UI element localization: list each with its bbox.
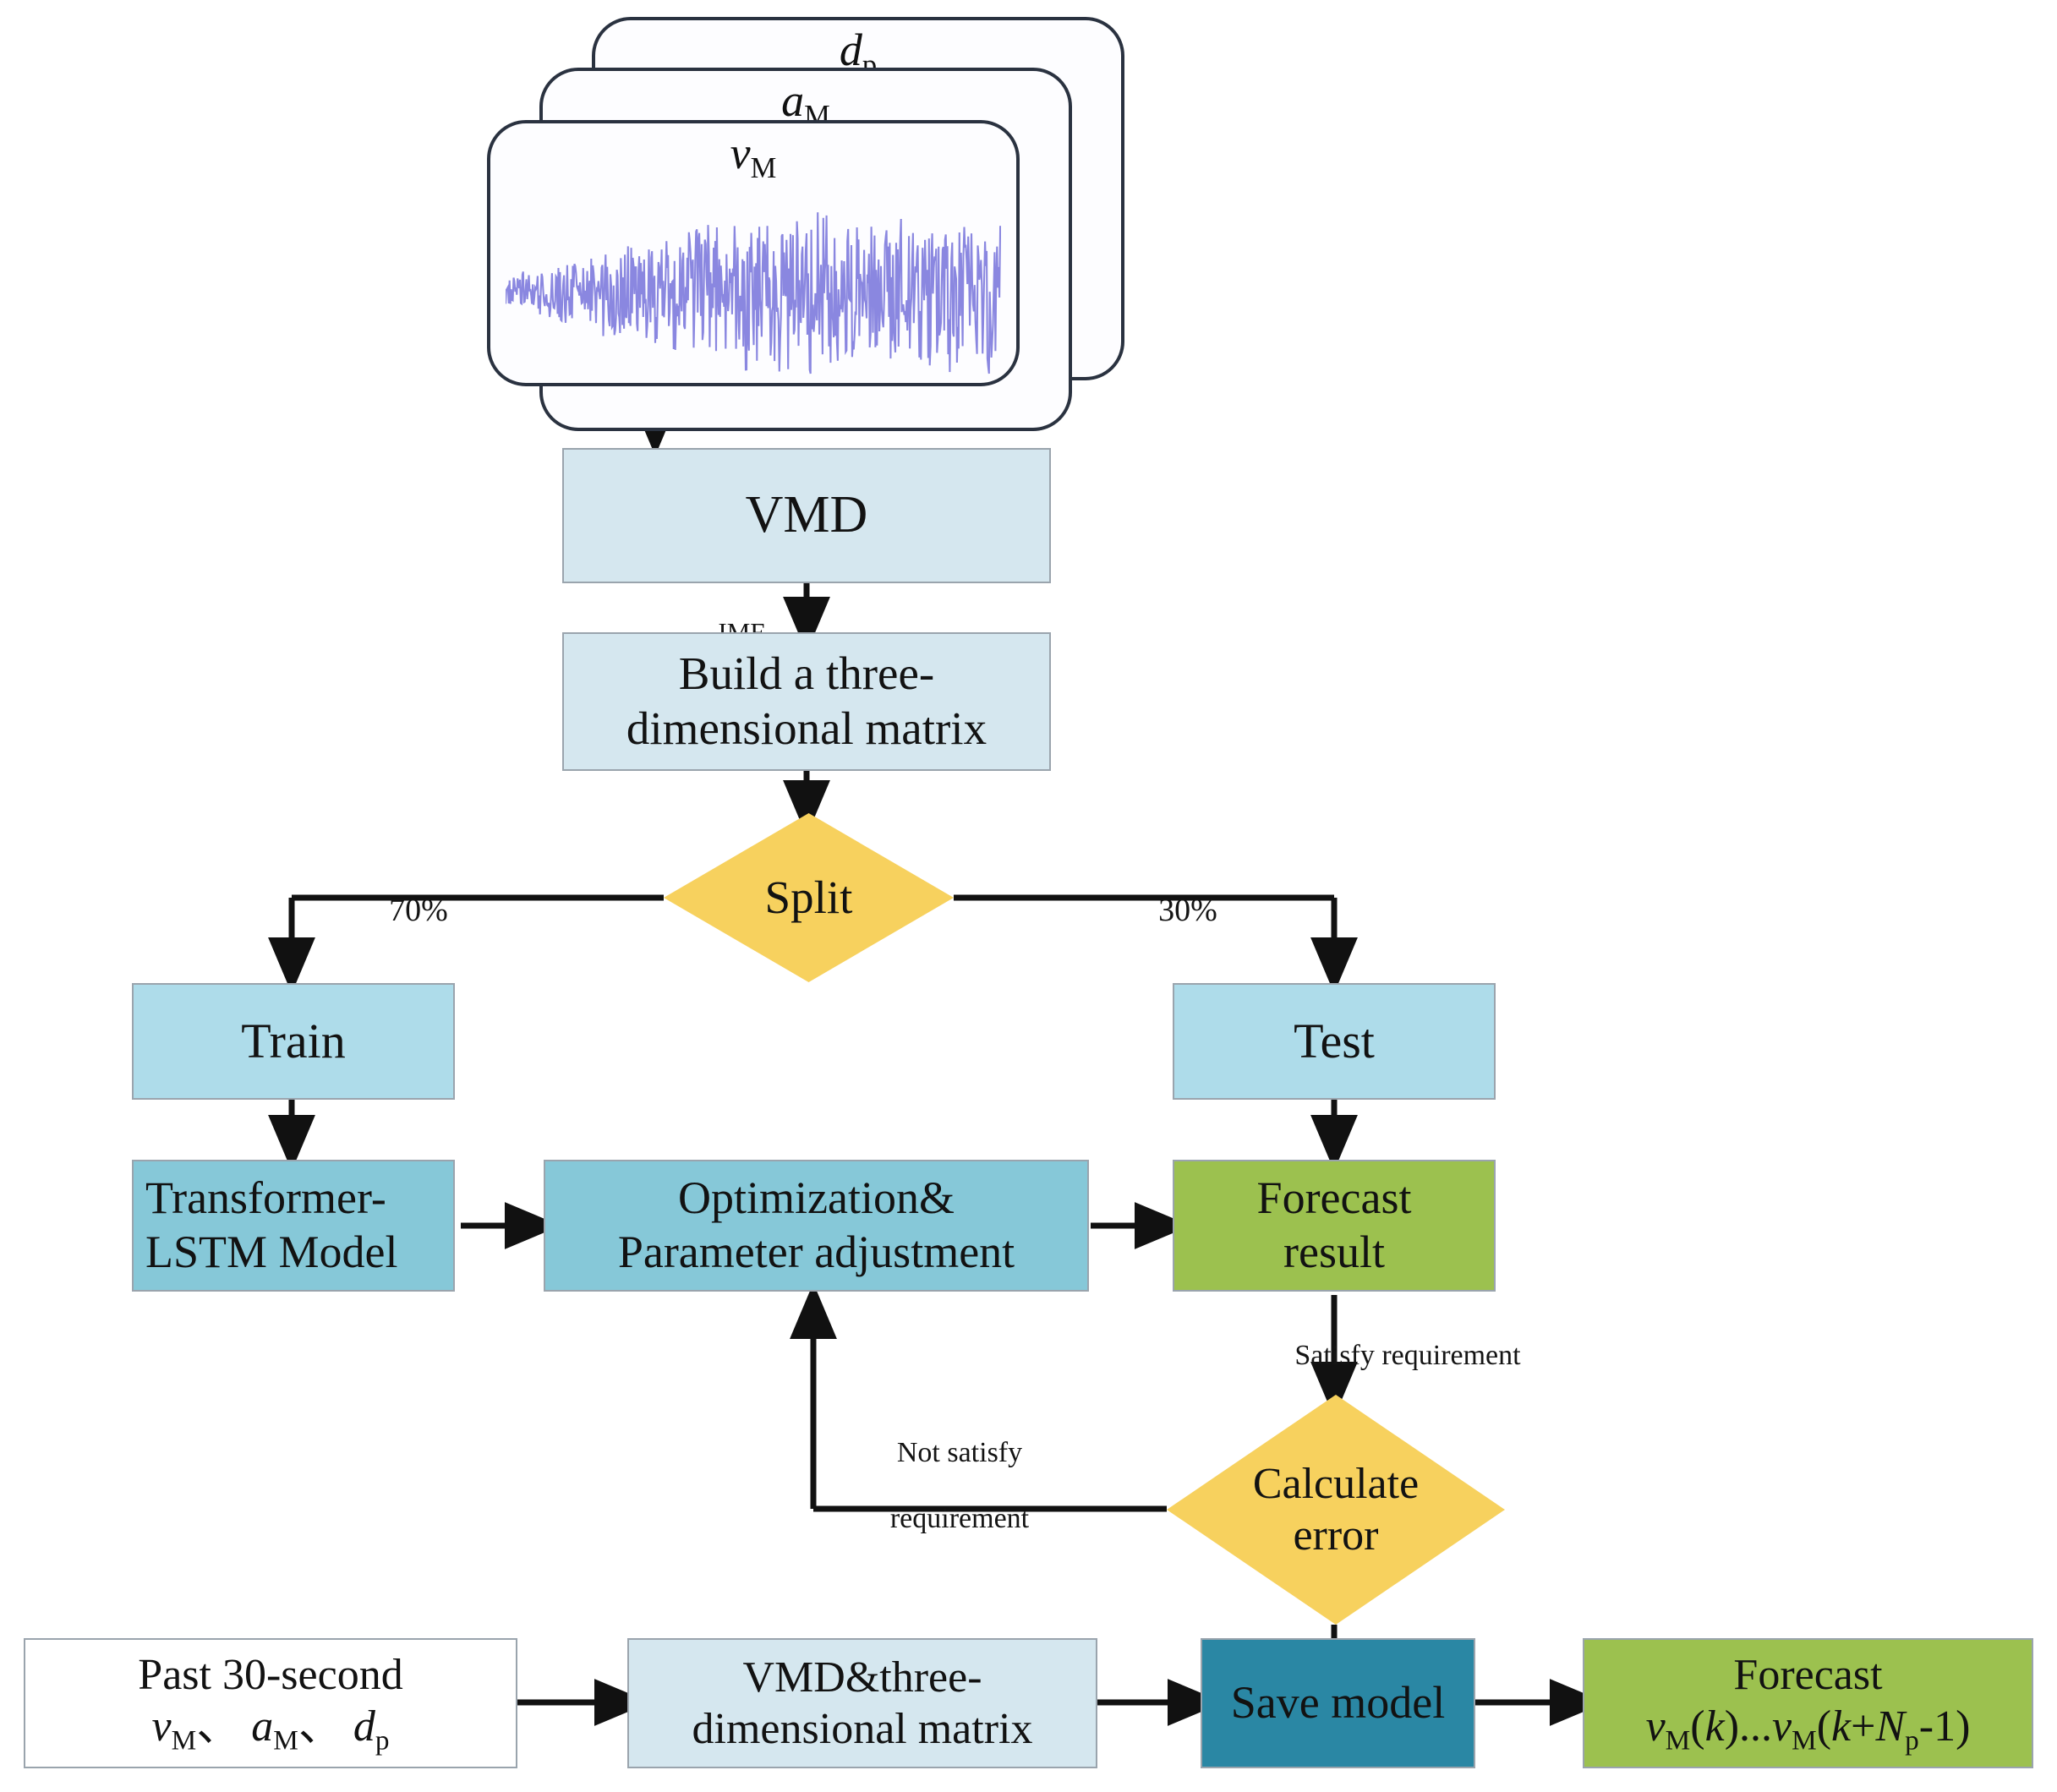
node-calculate-error-label: Calculate error	[1253, 1458, 1419, 1562]
past-sep-2: 、	[298, 1702, 342, 1751]
node-calculate-error[interactable]: Calculate error	[1167, 1395, 1505, 1625]
node-vmd-three-line2: dimensional matrix	[692, 1703, 1033, 1755]
past-sep-1: 、	[196, 1702, 240, 1751]
node-build-matrix[interactable]: Build a three- dimensional matrix	[562, 632, 1051, 771]
out-k1: k	[1705, 1702, 1725, 1751]
node-test[interactable]: Test	[1173, 983, 1496, 1100]
node-build-matrix-line1: Build a three-	[679, 647, 934, 702]
edge-label-satisfy-text: Satisfy requirement	[1294, 1340, 1520, 1371]
edge-label-30-text: 30%	[1158, 893, 1217, 928]
node-optimization-line2: Parameter adjustment	[618, 1226, 1015, 1280]
node-forecast-result-line2: result	[1283, 1226, 1385, 1280]
out-v1-subscript: M	[1666, 1725, 1691, 1756]
node-train[interactable]: Train	[132, 983, 455, 1100]
node-build-matrix-line2: dimensional matrix	[626, 702, 987, 757]
edge-label-satisfy: Satisfy requirement	[1217, 1306, 1598, 1372]
node-calculate-error-line2: error	[1293, 1510, 1378, 1561]
out-v1-symbol: v	[1646, 1702, 1666, 1751]
node-forecast-result-line1: Forecast	[1257, 1172, 1412, 1226]
node-train-label: Train	[241, 1013, 346, 1070]
out-v2-symbol: v	[1772, 1702, 1792, 1751]
node-split[interactable]: Split	[664, 813, 954, 982]
node-vmd-three-line1: VMD&three-	[742, 1652, 982, 1703]
card-vm-label: vM	[487, 127, 1020, 185]
node-forecast-output-line2: vM(k)...vM(k+Np-1)	[1646, 1701, 1971, 1757]
node-forecast-output-line1: Forecast	[1733, 1649, 1882, 1701]
past-a-subscript: M	[273, 1725, 298, 1756]
edge-label-not-satisfy-line1: Not satisfy	[897, 1437, 1022, 1468]
node-past-line1: Past 30-second	[138, 1649, 402, 1701]
past-d-subscript: p	[375, 1725, 390, 1756]
node-vmd-label: VMD	[746, 484, 868, 546]
node-optimization-line1: Optimization&	[678, 1172, 955, 1226]
past-d-symbol: d	[353, 1702, 375, 1751]
node-past-30-second[interactable]: Past 30-second vM、 aM、 dp	[24, 1638, 517, 1768]
card-vm-symbol: v	[730, 128, 751, 178]
node-save-model[interactable]: Save model	[1201, 1638, 1475, 1768]
out-Np-subscript: p	[1905, 1725, 1919, 1756]
node-test-label: Test	[1294, 1013, 1375, 1070]
out-Np-symbol: N	[1875, 1702, 1905, 1751]
edge-label-70: 70%	[355, 855, 482, 929]
node-optimization[interactable]: Optimization& Parameter adjustment	[544, 1160, 1089, 1292]
edge-label-70-text: 70%	[389, 893, 448, 928]
node-transformer-lstm[interactable]: Transformer- LSTM Model	[132, 1160, 455, 1292]
node-calculate-error-line1: Calculate	[1253, 1458, 1419, 1510]
node-forecast-output[interactable]: Forecast vM(k)...vM(k+Np-1)	[1583, 1638, 2033, 1768]
node-transformer-line1: Transformer-	[145, 1172, 386, 1226]
waveform-svg	[506, 179, 1001, 375]
waveform-plot	[506, 179, 1001, 375]
edge-label-30: 30%	[1124, 855, 1251, 929]
node-transformer-line2: LSTM Model	[145, 1226, 398, 1280]
out-k2: k	[1831, 1702, 1851, 1751]
node-vmd-three-dim[interactable]: VMD&three- dimensional matrix	[627, 1638, 1097, 1768]
past-v-subscript: M	[172, 1725, 197, 1756]
edge-label-not-satisfy: Not satisfy requirement	[833, 1403, 1086, 1535]
out-v2-subscript: M	[1792, 1725, 1817, 1756]
card-am-symbol: a	[781, 75, 804, 126]
node-save-model-label: Save model	[1231, 1676, 1445, 1730]
node-vmd[interactable]: VMD	[562, 448, 1051, 583]
node-past-line2: vM、 aM、 dp	[152, 1701, 390, 1757]
past-v-symbol: v	[152, 1702, 172, 1751]
flowchart-canvas: dp aM vM VMD IMF Build a three- dimensio…	[0, 0, 2057, 1792]
edge-label-not-satisfy-line2: requirement	[890, 1503, 1029, 1534]
past-a-symbol: a	[251, 1702, 273, 1751]
node-forecast-result[interactable]: Forecast result	[1173, 1160, 1496, 1292]
node-split-label: Split	[765, 871, 853, 926]
